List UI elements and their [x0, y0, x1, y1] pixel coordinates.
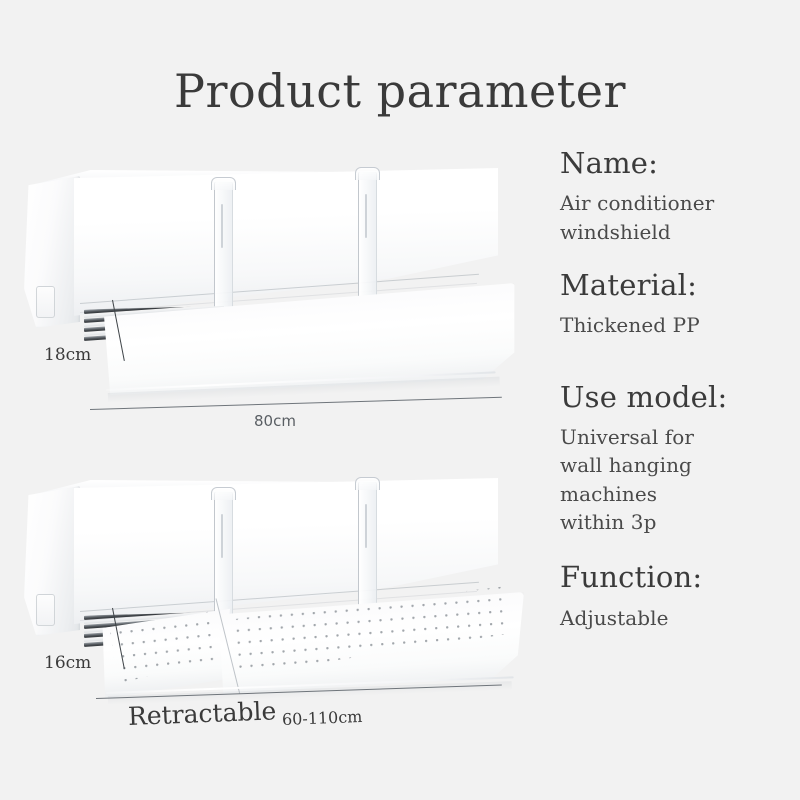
ac-mounting-clip-left [214, 182, 233, 310]
spec-label-function: Function: [560, 560, 795, 594]
specification-list: Name: Air conditioner windshield Materia… [560, 146, 795, 638]
ac-mounting-clip-right-top [355, 167, 380, 180]
dimension-label-16cm: 16cm [44, 653, 91, 673]
ac-mounting-clip-right-groove [365, 504, 367, 548]
spec-value-use-model: Universal for wall hanging machines with… [560, 423, 795, 537]
caption-retractable: Retractable [127, 696, 276, 731]
ac-mounting-clip-left-groove [221, 204, 223, 248]
spec-value-name: Air conditioner windshield [560, 189, 795, 246]
ac-mounting-clip-right-groove [365, 194, 367, 238]
spec-label-material: Material: [560, 268, 795, 302]
spec-value-line: within 3p [560, 508, 795, 536]
spec-value-line: Thickened PP [560, 311, 795, 339]
spec-item-name: Name: Air conditioner windshield [560, 146, 795, 246]
spec-label-name: Name: [560, 146, 795, 180]
spec-item-function: Function: Adjustable [560, 560, 795, 632]
ac-mounting-clip-left-top [211, 177, 236, 190]
spec-value-function: Adjustable [560, 604, 795, 632]
spec-value-line: Adjustable [560, 604, 795, 632]
ac-unit-end-cap-slot [36, 594, 55, 626]
ac-unit-end-cap-slot [36, 286, 55, 318]
product-parameter-infographic: Product parameter [0, 0, 800, 800]
ac-mounting-clip-right-top [355, 477, 380, 490]
spec-value-line: machines [560, 480, 795, 508]
product-image-retractable-windshield [18, 470, 538, 715]
ac-mounting-clip-right [358, 482, 377, 608]
dimension-label-18cm: 18cm [44, 345, 91, 365]
spec-value-line: Universal for [560, 423, 795, 451]
spec-value-line: Air conditioner [560, 189, 795, 217]
ac-mounting-clip-left-top [211, 487, 236, 500]
spec-value-line: wall hanging [560, 451, 795, 479]
spec-item-material: Material: Thickened PP [560, 268, 795, 340]
ac-mounting-clip-right [358, 172, 377, 300]
spec-item-use-model: Use model: Universal for wall hanging ma… [560, 380, 795, 537]
dimension-label-80cm: 80cm [254, 412, 296, 430]
page-title: Product parameter [0, 66, 800, 117]
ac-mounting-clip-left-groove [221, 514, 223, 558]
spec-label-use-model: Use model: [560, 380, 795, 414]
product-image-fixed-windshield [18, 160, 538, 425]
dimension-label-60-110cm: 60-110cm [282, 707, 363, 729]
spec-value-material: Thickened PP [560, 311, 795, 339]
spec-value-line: windshield [560, 218, 795, 246]
